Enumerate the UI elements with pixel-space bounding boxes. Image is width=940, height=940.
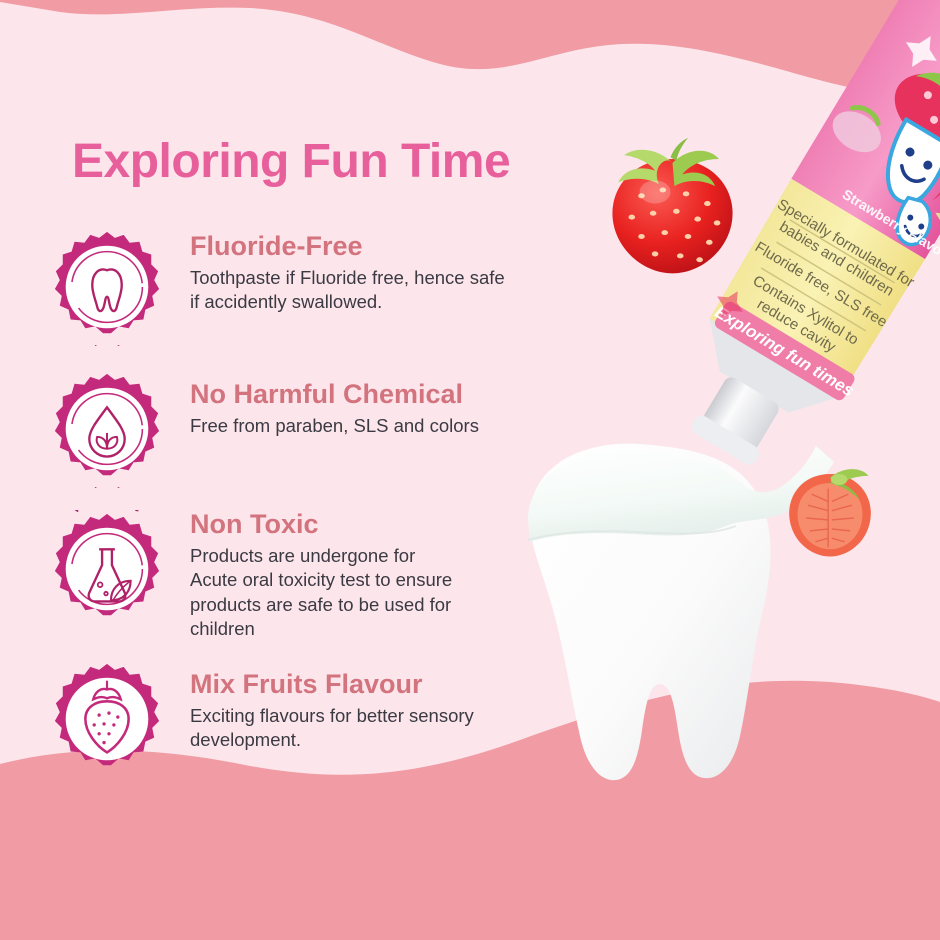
feature-text: Mix Fruits Flavour Exciting flavours for… — [190, 670, 560, 753]
feature-text: No Harmful Chemical Free from paraben, S… — [190, 380, 560, 438]
feature-body-line: if accidently swallowed. — [190, 290, 560, 314]
feature-text: Non Toxic Products are undergone for Acu… — [190, 510, 560, 641]
feature-heading: Mix Fruits Flavour — [190, 670, 560, 700]
feature-body-line: Toothpaste if Fluoride free, hence safe — [190, 266, 560, 290]
feature-text: Fluoride-Free Toothpaste if Fluoride fre… — [190, 232, 560, 315]
feature-body-line: products are safe to be used for — [190, 593, 560, 617]
badge-non-toxic: NON TOXIC — [48, 510, 166, 628]
feature-body-line: Exciting flavours for better sensory — [190, 704, 560, 728]
feature-body-line: Free from paraben, SLS and colors — [190, 414, 560, 438]
feature-body-line: Products are undergone for — [190, 544, 560, 568]
feature-body: Free from paraben, SLS and colors — [190, 414, 560, 438]
feature-body: Toothpaste if Fluoride free, hence safe … — [190, 266, 560, 315]
feature-heading: Fluoride-Free — [190, 232, 560, 262]
badge-paraben-free: PARABEN FREE — [48, 370, 166, 488]
badge-fluoride-free: FLUORIDE FREE — [48, 228, 166, 346]
strawberry-whole-icon — [595, 128, 750, 283]
badge-top-label: PARABEN — [70, 370, 143, 371]
strawberry-half-icon — [775, 452, 885, 562]
page-title: Exploring Fun Time — [72, 134, 510, 189]
feature-body: Products are undergone for Acute oral to… — [190, 544, 560, 642]
badge-bottom-label: FREE — [89, 484, 125, 488]
infographic-canvas: Exploring Fun Time — [0, 0, 940, 940]
badge-mix-fruits-flavour — [48, 660, 166, 778]
feature-body-line: development. — [190, 728, 560, 752]
feature-heading: Non Toxic — [190, 510, 560, 540]
badge-top-label: FLUORIDE — [69, 228, 145, 230]
badge-bottom-label: FREE — [89, 342, 125, 346]
feature-body-line: Acute oral toxicity test to ensure — [190, 568, 560, 592]
feature-body-line: children — [190, 617, 560, 641]
feature-heading: No Harmful Chemical — [190, 380, 560, 410]
feature-body: Exciting flavours for better sensory dev… — [190, 704, 560, 753]
